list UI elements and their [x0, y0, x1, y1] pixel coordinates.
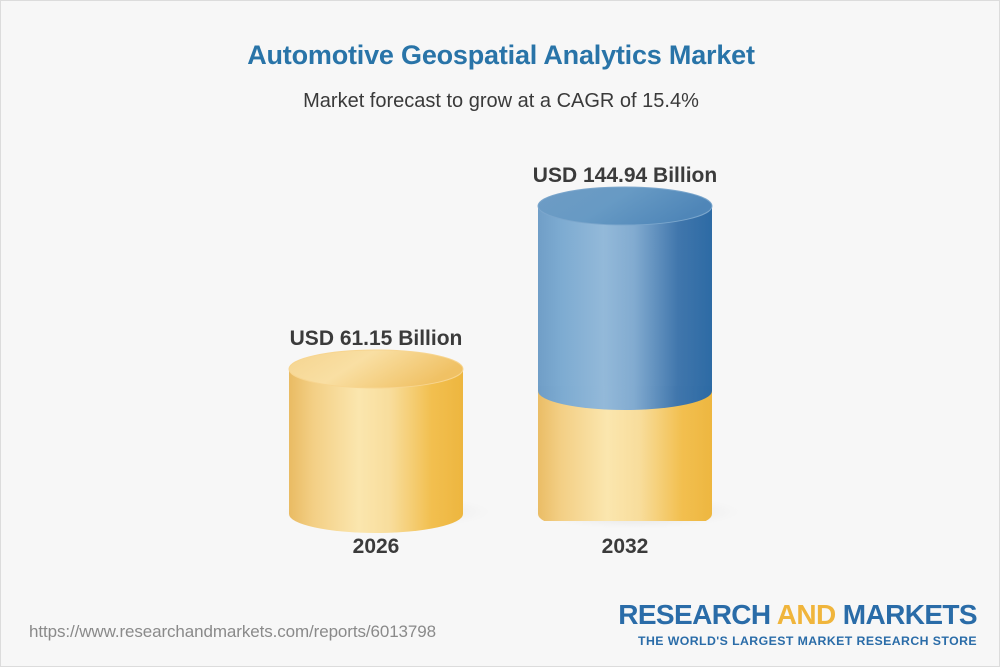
- bar-group-2032[interactable]: USD 144.94 Billion: [508, 1, 742, 601]
- logo-word-and: AND: [777, 599, 836, 630]
- logo-tagline: THE WORLD'S LARGEST MARKET RESEARCH STOR…: [618, 634, 977, 648]
- chart-canvas: Automotive Geospatial Analytics Market M…: [0, 0, 1000, 667]
- category-label-2032: 2032: [508, 535, 742, 559]
- category-label-2026: 2026: [259, 535, 493, 559]
- logo-wordmark: RESEARCH AND MARKETS: [618, 601, 977, 629]
- logo-word-research: RESEARCH: [618, 599, 776, 630]
- cylinder-2032[interactable]: [508, 1, 742, 601]
- cylinder-segment-yellow-2032: [536, 391, 714, 521]
- logo-word-markets: MARKETS: [836, 599, 977, 630]
- source-url[interactable]: https://www.researchandmarkets.com/repor…: [29, 622, 436, 642]
- bar-group-2026[interactable]: USD 61.15 Billion: [259, 1, 493, 601]
- cylinder-body-2026: [289, 369, 463, 533]
- cylinder-body-2032: [536, 201, 714, 521]
- cylinder-2026[interactable]: [259, 1, 493, 601]
- brand-logo[interactable]: RESEARCH AND MARKETS THE WORLD'S LARGEST…: [618, 601, 977, 648]
- plot-area: USD 61.15 Billion: [1, 1, 1000, 601]
- cylinder-segment-blue-2032: [536, 201, 714, 391]
